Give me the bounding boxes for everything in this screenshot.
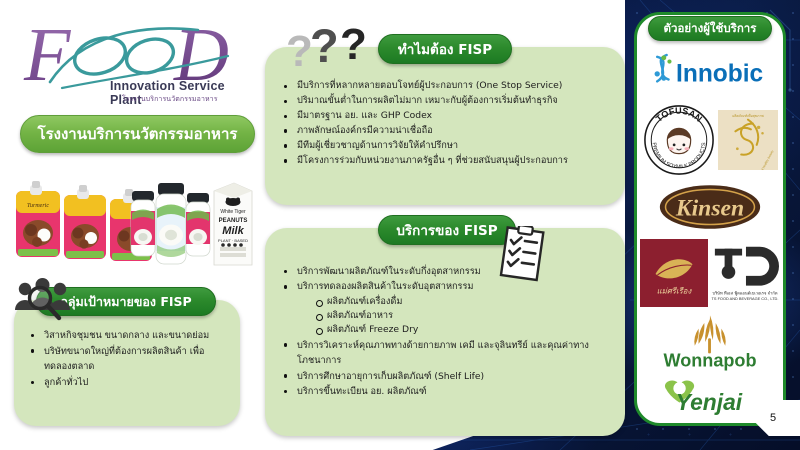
list-item: มีทีมผู้เชี่ยวชาญด้านการวิจัยให้คำปรึกษา <box>277 139 617 154</box>
client-logo-tofusan: TOFUSAN PREMIUM SOYMILK PRODUCTS <box>642 103 716 177</box>
svg-text:Kinsen: Kinsen <box>675 195 744 221</box>
checklist-icon <box>498 226 550 284</box>
client-logo-wonnapob: Wonnapob <box>637 312 783 372</box>
fisp-logo: F D Innovation Service Plant โรงงานบริกา… <box>22 16 257 108</box>
svg-text:?: ? <box>310 22 339 70</box>
list-item: ปริมาณขั้นต่ำในการผลิตไม่มาก เหมาะกับผู้… <box>277 94 617 109</box>
client-logo-kinsen: Kinsen <box>637 181 783 233</box>
svg-text:Innobic: Innobic <box>676 60 763 87</box>
list-item: บริการศึกษาอายุการเก็บผลิตภัณฑ์ (Shelf L… <box>277 369 617 384</box>
svg-text:?: ? <box>286 27 313 70</box>
why-fisp-list: มีบริการที่หลากหลายตอบโจทย์ผู้ประกอบการ … <box>277 79 617 168</box>
client-logo-maesritueang: แม่ศรีเรือง <box>640 239 708 307</box>
list-item: ลูกค้าทั่วไป <box>24 375 232 391</box>
list-item: ผลิตภัณฑ์เครื่องดื่ม <box>307 295 617 309</box>
panel-why-title: ทำไมต้อง FISP <box>378 34 512 64</box>
fisp-services-list: บริการพัฒนาผลิตภัณฑ์ในระดับกึ่งอุตสาหกรร… <box>277 264 617 399</box>
people-search-icon <box>14 276 72 326</box>
list-item: บริการวิเคราะห์คุณภาพทางด้ายกายภาพ เคมี … <box>277 338 617 369</box>
svg-text:PEANUTS: PEANUTS <box>219 218 248 224</box>
client-logo-gold-script: ผลิตภัณฑ์เพื่อสุขภาพ natural healthy bea… <box>718 110 778 170</box>
panel-fisp-services: บริการของ FISP บริการพัฒนาผลิตภัณฑ์ในระด… <box>265 228 625 436</box>
target-group-list: วิสาหกิจชุมชน ขนาดกลาง และขนาดย่อม บริษั… <box>24 328 232 391</box>
client-logo-ts-food: บริษัท ทีเอส ฟู้ดแอนด์เบเวอเรจ จำกัด TS … <box>709 239 781 307</box>
client-logo-row-4: แม่ศรีเรือง บริษัท ทีเอส ฟู้ดแอนด์เบเวอเ… <box>637 233 783 312</box>
svg-text:แม่ศรีเรือง: แม่ศรีเรือง <box>656 286 692 295</box>
svg-text:Wonnapob: Wonnapob <box>663 351 756 371</box>
client-logo-innobic: Innobic <box>637 43 783 99</box>
svg-text:White Tiger: White Tiger <box>220 209 246 215</box>
services-sublist: ผลิตภัณฑ์เครื่องดื่ม ผลิตภัณฑ์อาหาร ผลิต… <box>307 295 617 338</box>
list-item: บริการพัฒนาผลิตภัณฑ์ในระดับกึ่งอุตสาหกรร… <box>277 264 617 279</box>
sidebar-title: ตัวอย่างผู้ใช้บริการ <box>648 16 772 41</box>
client-logo-grid: Innobic TOFUSAN PREMIUM SOYMILK PRODUCTS <box>637 43 783 417</box>
client-logo-row-2: TOFUSAN PREMIUM SOYMILK PRODUCTS <box>637 99 783 180</box>
svg-text:Yenjai: Yenjai <box>676 389 743 415</box>
list-item: มีมาตรฐาน อย. และ GHP Codex <box>277 109 617 124</box>
list-item: ผลิตภัณฑ์อาหาร <box>307 309 617 323</box>
svg-text:?: ? <box>340 22 367 69</box>
svg-text:TS FOOD AND BEVERAGE CO., LTD.: TS FOOD AND BEVERAGE CO., LTD. <box>711 296 778 301</box>
list-item: ภาพลักษณ์องค์กรมีความน่าเชื่อถือ <box>277 124 617 139</box>
panel-services-title: บริการของ FISP <box>378 215 516 245</box>
list-item: มีบริการที่หลากหลายตอบโจทย์ผู้ประกอบการ … <box>277 79 617 94</box>
list-item: บริการทดลองผลิตสินค้าในระดับอุตสาหกรรม <box>277 279 617 294</box>
panel-why-fisp: ทำไมต้อง FISP มีบริการที่หลากหลายตอบโจทย… <box>265 47 625 205</box>
svg-text:PLANT · BASED: PLANT · BASED <box>218 238 248 243</box>
list-item: ผลิตภัณฑ์ Freeze Dry <box>307 323 617 337</box>
svg-text:Milk: Milk <box>222 225 244 237</box>
svg-text:Turmeric: Turmeric <box>27 203 49 209</box>
client-logos-sidebar: Innobic TOFUSAN PREMIUM SOYMILK PRODUCTS <box>634 12 786 426</box>
list-item: วิสาหกิจชุมชน ขนาดกลาง และขนาดย่อม <box>24 328 232 344</box>
question-marks-icon: ? ? ? <box>286 22 391 70</box>
list-item: มีโครงการร่วมกับหน่วยงานภาครัฐอื่น ๆ ที่… <box>277 154 617 169</box>
logo-subtitle-th: โรงงานบริการนวัตกรรมอาหาร <box>122 94 218 105</box>
product-photos: Turmeric <box>8 163 260 283</box>
factory-service-button[interactable]: โรงงานบริการนวัตกรรมอาหาร <box>20 115 255 153</box>
list-item: บริการขึ้นทะเบียน อย. ผลิตภัณฑ์ <box>277 384 617 399</box>
svg-text:F: F <box>23 16 72 97</box>
list-item: บริษัทขนาดใหญ่ที่ต้องการผลิตสินค้า เพื่อ… <box>24 344 232 375</box>
slide-canvas: F D Innovation Service Plant โรงงานบริกา… <box>0 0 800 450</box>
